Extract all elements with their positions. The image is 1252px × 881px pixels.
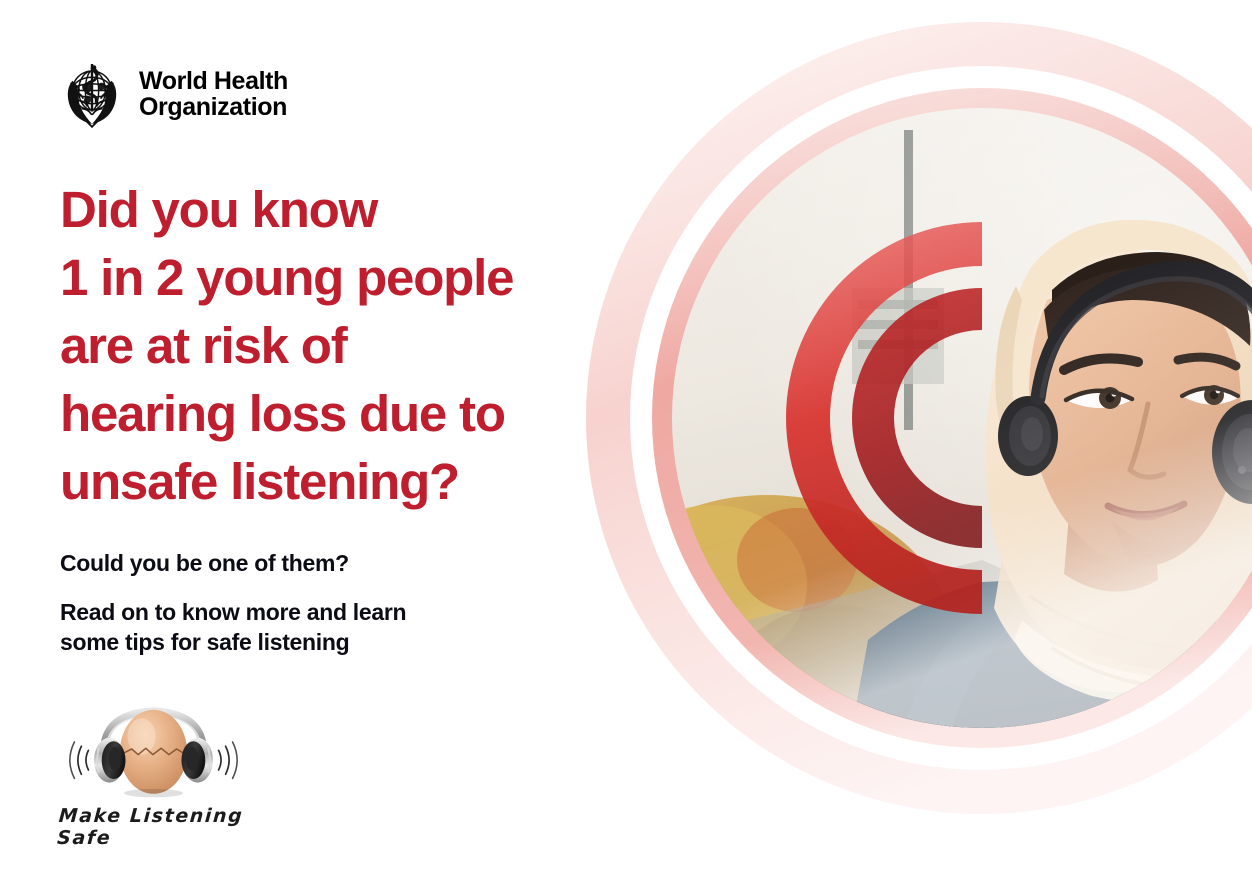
sound-waves-left [70,742,89,778]
arc-ring-inner [852,288,982,548]
who-logo: World Health Organization [57,57,288,131]
headline-line-2: 1 in 2 young people [60,244,660,312]
who-emblem-icon [57,57,127,131]
arc-ring-outer [586,22,1252,814]
subheading-question: Could you be one of them? [60,548,349,578]
arc-ring-2 [652,88,1252,748]
headline-line-4: hearing loss due to [60,380,660,448]
arc-ring-3 [718,154,1246,682]
headphone-left-cup [998,396,1058,476]
headline-line-3: are at risk of [60,312,660,380]
headline-line-1: Did you know [60,176,660,244]
headline: Did you know 1 in 2 young people are at … [60,176,660,516]
headline-line-5: unsafe listening? [60,448,660,516]
subheading-call-to-action: Read on to know more and learn some tips… [60,597,530,657]
egg-headphones-icon [66,693,241,798]
poster-canvas: World Health Organization Did you know 1… [0,0,1252,881]
make-listening-safe-logo: Make Listening Safe [58,693,268,849]
sound-waves-right [219,742,238,778]
portrait-photo [582,108,1252,785]
arc-ring-4 [786,222,982,614]
headphone-right-cup [1212,400,1252,504]
who-wordmark: World Health Organization [139,68,288,120]
make-listening-safe-tagline: Make Listening Safe [56,805,269,849]
